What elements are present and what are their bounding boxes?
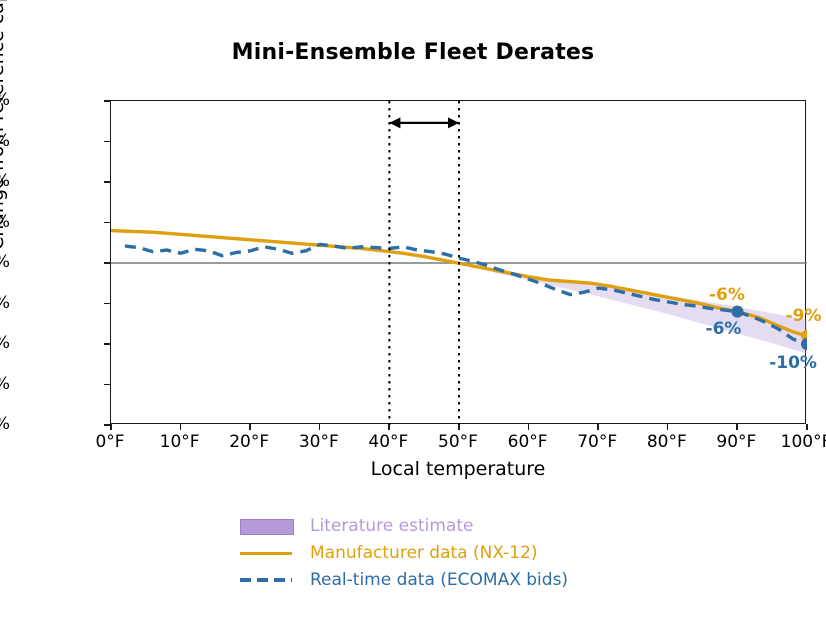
legend-label: Literature estimate (310, 516, 473, 536)
literature-estimate-band (494, 271, 807, 354)
series-marker-realtime (731, 306, 743, 318)
legend-item[interactable]: Manufacturer data (NX-12) (238, 539, 598, 566)
legend-key-glyph (240, 552, 292, 555)
legend-key-glyph (240, 578, 292, 582)
chart-legend: Literature estimateManufacturer data (NX… (238, 512, 598, 593)
y-axis-tick-label: +15% (0, 131, 10, 151)
x-axis-label: Local temperature (110, 458, 806, 480)
x-axis-tick-label: 0°F (95, 432, 124, 452)
legend-key-glyph (240, 519, 294, 535)
plot-area: -6%-9%-6%-10% (110, 100, 806, 424)
x-axis-tick-label: 80°F (647, 432, 687, 452)
span-arrow-head-right (448, 117, 459, 128)
realtime-100f-label: -10% (769, 353, 817, 373)
manufacturer-100f-label: -9% (786, 306, 822, 326)
x-axis-tick-label: 30°F (299, 432, 339, 452)
x-axis-tick-label: 100°F (781, 432, 826, 452)
y-axis-tick-label: -5% (0, 293, 10, 313)
legend-label: Manufacturer data (NX-12) (310, 543, 538, 563)
legend-swatch-patch-swatch (238, 517, 296, 535)
plot-canvas (111, 101, 807, 425)
x-axis-tick-label: 40°F (368, 432, 408, 452)
y-axis-tick-label: +10% (0, 171, 10, 191)
span-arrow-head-left (389, 117, 400, 128)
legend-item[interactable]: Real-time data (ECOMAX bids) (238, 566, 598, 593)
x-axis-tick-label: 70°F (577, 432, 617, 452)
legend-label: Real-time data (ECOMAX bids) (310, 570, 568, 590)
x-axis-tick-label: 50°F (438, 432, 478, 452)
chart-figure: Mini-Ensemble Fleet Derates Change from … (0, 0, 826, 620)
chart-title: Mini-Ensemble Fleet Derates (0, 40, 826, 65)
y-axis-tick-label: -20% (0, 414, 10, 434)
x-axis-tick-label: 20°F (229, 432, 269, 452)
x-axis-tick-label: 90°F (716, 432, 756, 452)
legend-swatch-dashed-line (238, 571, 296, 589)
y-axis-tick-label: -15% (0, 374, 10, 394)
y-axis-tick-label: -10% (0, 333, 10, 353)
y-axis-tick-label: +0% (0, 252, 10, 272)
y-axis-tick-label: +20% (0, 90, 10, 110)
legend-swatch-solid-line (238, 544, 296, 562)
manufacturer-90f-label: -6% (709, 285, 745, 305)
realtime-90f-label: -6% (706, 319, 742, 339)
legend-item[interactable]: Literature estimate (238, 512, 598, 539)
x-axis-tick-label: 60°F (508, 432, 548, 452)
y-axis-tick-label: +5% (0, 212, 10, 232)
x-axis-tick-label: 10°F (160, 432, 200, 452)
